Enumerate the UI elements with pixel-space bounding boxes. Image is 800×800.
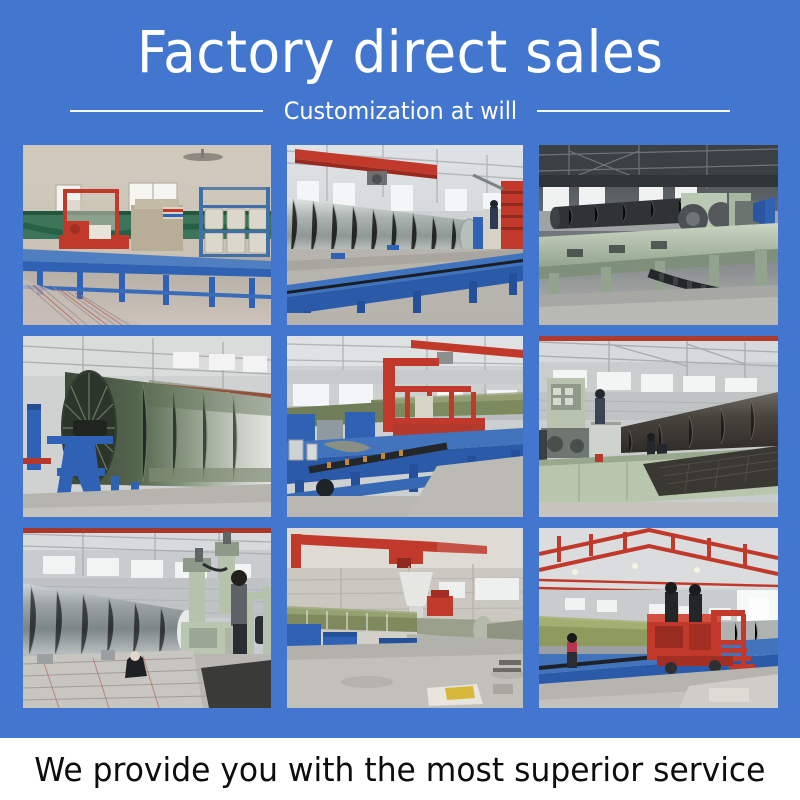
subheadline: Customization at will [272, 97, 528, 125]
photo-1 [23, 145, 271, 325]
photo-5 [287, 336, 523, 517]
photo-cell-7[interactable] [23, 528, 271, 708]
photo-cell-2[interactable] [287, 145, 523, 325]
photo-4 [23, 336, 271, 517]
photo-cell-8[interactable] [287, 528, 523, 708]
photo-9 [539, 528, 778, 708]
rule-right [537, 110, 730, 112]
photo-grid [14, 145, 786, 800]
photo-cell-5[interactable] [287, 336, 523, 517]
subheadline-row: Customization at will [70, 97, 730, 125]
photo-7 [23, 528, 271, 708]
photo-2 [287, 145, 523, 325]
photo-3 [539, 145, 778, 325]
banner-footer: We provide you with the most superior se… [0, 738, 800, 800]
promo-banner: Factory direct sales Customization at wi… [0, 0, 800, 800]
banner-header: Factory direct sales Customization at wi… [0, 0, 800, 145]
rule-left [70, 110, 263, 112]
headline: Factory direct sales [137, 22, 664, 83]
photo-cell-3[interactable] [539, 145, 778, 325]
photo-cell-9[interactable] [539, 528, 778, 708]
photo-8 [287, 528, 523, 708]
photo-6 [539, 336, 778, 517]
photo-cell-6[interactable] [539, 336, 778, 517]
footer-text: We provide you with the most superior se… [34, 750, 765, 789]
photo-cell-1[interactable] [23, 145, 271, 325]
photo-cell-4[interactable] [23, 336, 271, 517]
